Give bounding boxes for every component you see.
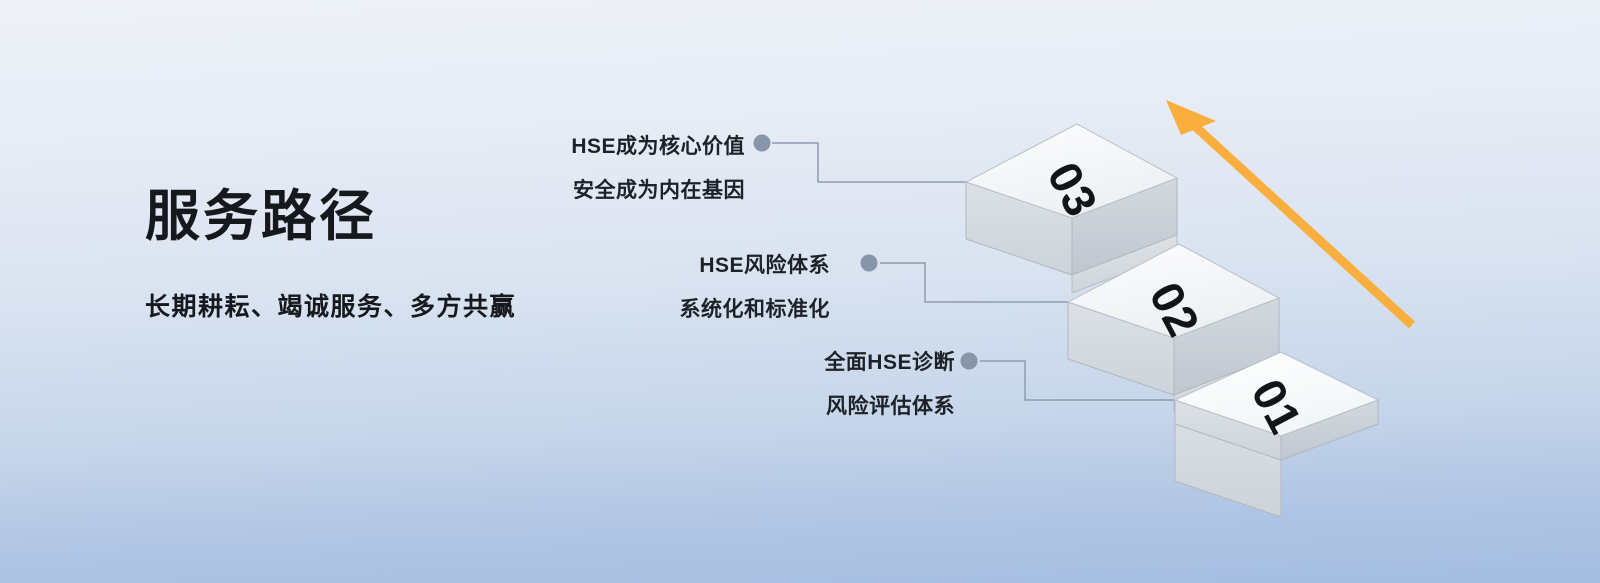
- service-path-banner: 服务路径 长期耕耘、竭诚服务、多方共赢 HSE成为核心价值 安全成为内在基因 H…: [0, 0, 1600, 583]
- growth-arrow-head: [1166, 100, 1216, 135]
- connector-dot-03: [754, 135, 771, 152]
- connector-dots: [754, 135, 978, 370]
- connector-dot-02: [861, 255, 878, 272]
- connector-line-03: [772, 143, 966, 182]
- connector-line-02: [880, 263, 1068, 302]
- isometric-stairs-diagram: 03 02 01: [0, 0, 1600, 583]
- connector-dot-01: [961, 353, 978, 370]
